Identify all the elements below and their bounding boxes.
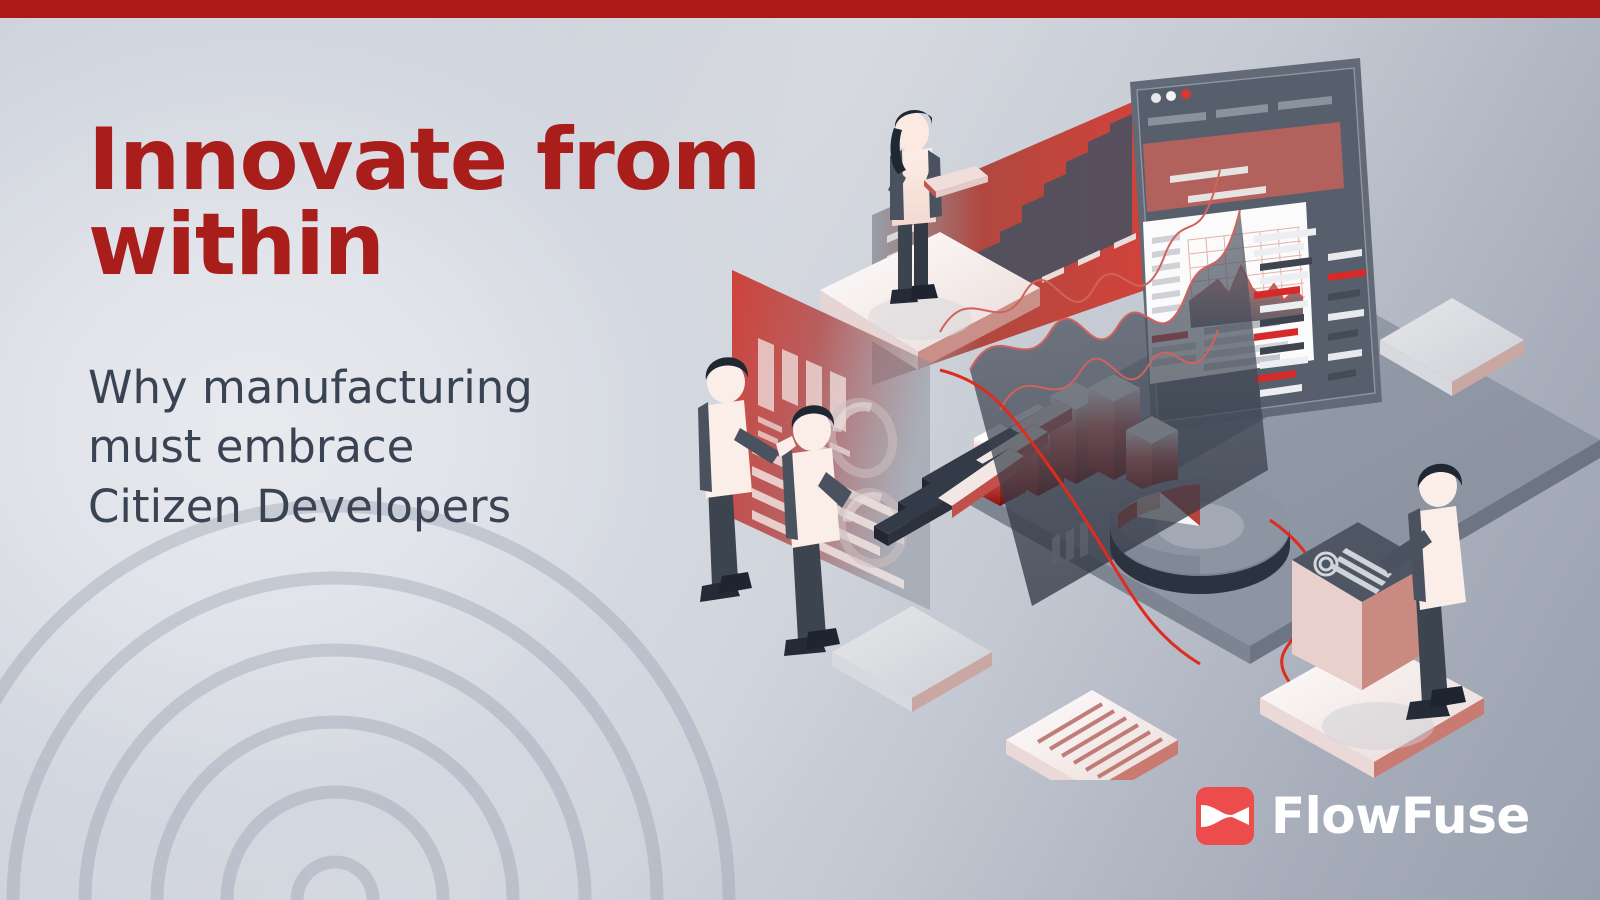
brand-accent-bar xyxy=(0,0,1600,18)
flowfuse-fuse-glyph-icon xyxy=(1196,787,1254,845)
page-title: Innovate from within xyxy=(88,118,788,288)
floating-tile-striped xyxy=(1006,690,1178,780)
page-subtitle: Why manufacturing must embrace Citizen D… xyxy=(88,358,688,536)
headline-line-1: Innovate from xyxy=(88,118,788,203)
headline-line-2: within xyxy=(88,203,788,288)
subhead-line-2: must embrace xyxy=(88,417,688,476)
subhead-line-1: Why manufacturing xyxy=(88,358,688,417)
flowfuse-logo[interactable]: FlowFuse xyxy=(1196,787,1530,845)
flowfuse-wordmark: FlowFuse xyxy=(1271,791,1530,841)
floating-tile-plain xyxy=(832,606,992,712)
banner-canvas: Innovate from within Why manufacturing m… xyxy=(0,0,1600,900)
subhead-line-3: Citizen Developers xyxy=(88,477,688,536)
